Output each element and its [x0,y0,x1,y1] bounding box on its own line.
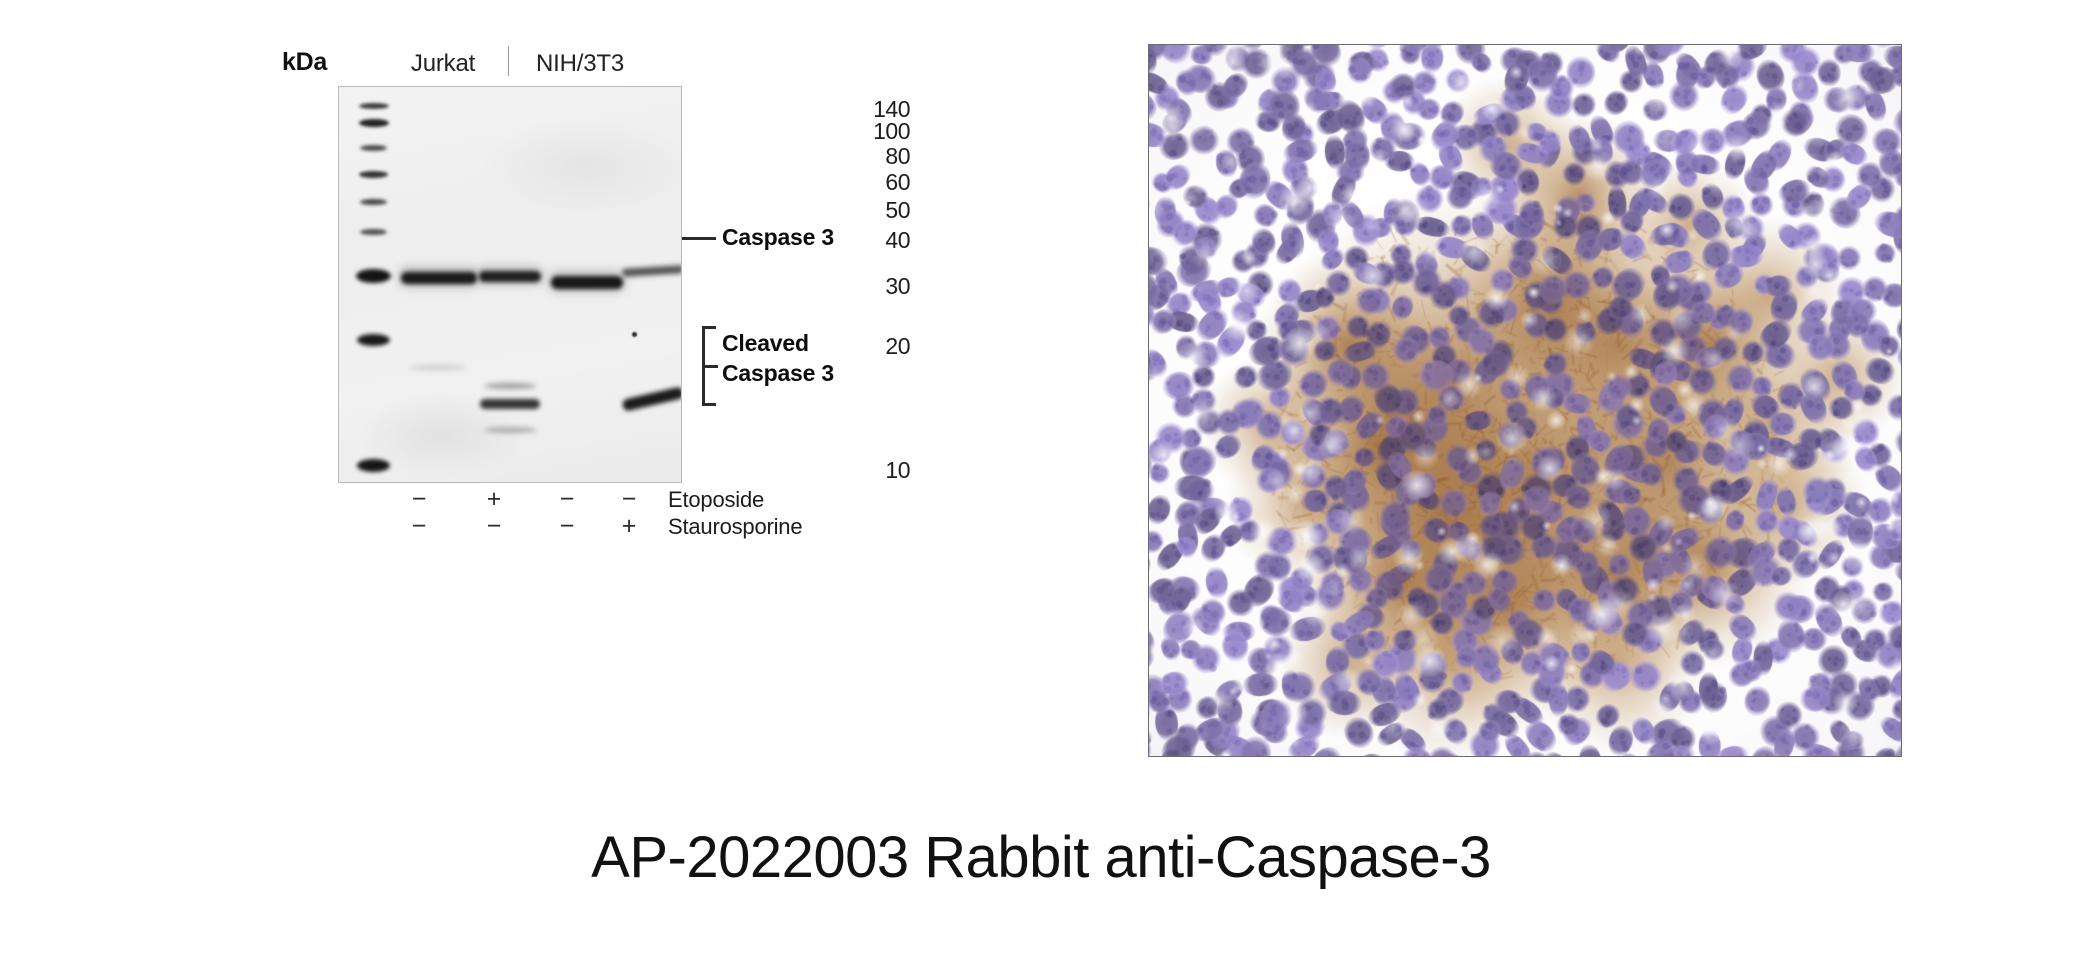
etoposide-lane2: + [468,488,520,510]
cell-line-label-nih3t3: NIH/3T3 [515,50,645,78]
mw-marker-100: 100 [852,118,910,145]
band-lane2-caspase3-halo [477,266,543,285]
figure-caption: AP-2022003 Rabbit anti-Caspase-3 [0,824,2082,891]
mw-marker-20: 20 [852,333,910,360]
ladder-band-80 [360,145,387,151]
blot-membrane-image [338,86,682,483]
etoposide-lane3: − [541,488,593,510]
band-lane3-caspase3-halo [549,271,625,292]
ladder-band-140 [359,103,389,109]
band-lane2-cleaved-lower [484,427,537,433]
band-lane2-cleaved-upper [484,383,536,389]
staurosporine-lane3: − [541,515,593,537]
ladder-band-10 [357,459,390,472]
ladder-band-100 [359,119,389,127]
annotation-cleaved-caspase3-line2: Caspase 3 [722,360,834,387]
blot-speck-artifact [632,332,637,337]
caspase3-leader-line [682,237,716,240]
band-lane1-cleaved-faint [409,365,467,370]
band-lane4-cleaved [621,386,682,412]
etoposide-lane4: − [603,488,655,510]
mw-marker-40: 40 [852,227,910,254]
mw-marker-10: 10 [852,457,910,484]
ladder-band-20 [357,334,390,346]
western-blot-panel: kDa Jurkat NIH/3T3 140 100 80 60 50 40 3… [190,38,910,738]
mw-marker-30: 30 [852,273,910,300]
treatment-label-etoposide: Etoposide [668,488,764,512]
ladder-band-60 [359,171,388,178]
band-lane4-caspase3 [622,265,682,277]
band-lane1-caspase3-halo [399,267,479,287]
staurosporine-lane2: − [468,515,520,537]
etoposide-lane1: − [393,488,445,510]
cell-line-divider [508,46,509,76]
kda-axis-title: kDa [282,48,327,77]
annotation-cleaved-caspase3-line1: Cleaved [722,330,809,357]
treatment-matrix: − + − − Etoposide − − − + Staurosporine [338,488,898,542]
ihc-tissue-image [1149,45,1901,756]
treatment-row-etoposide: − + − − Etoposide [338,488,898,515]
mw-marker-60: 60 [852,169,910,196]
ihc-micrograph-panel [1148,44,1902,757]
staurosporine-lane4: + [603,515,655,537]
annotation-caspase3: Caspase 3 [722,224,834,251]
ladder-band-40 [360,229,387,235]
cleaved-bracket-bottom [702,403,716,406]
band-lane2-cleaved-main [480,399,540,409]
ladder-band-30 [356,269,391,283]
cleaved-bracket-stem [702,365,718,368]
treatment-label-staurosporine: Staurosporine [668,515,802,539]
cell-line-label-jurkat: Jurkat [383,50,503,78]
staurosporine-lane1: − [393,515,445,537]
mw-marker-80: 80 [852,143,910,170]
mw-marker-50: 50 [852,197,910,224]
treatment-row-staurosporine: − − − + Staurosporine [338,515,898,542]
cleaved-bracket-top [702,326,716,329]
ladder-band-50 [360,199,387,205]
